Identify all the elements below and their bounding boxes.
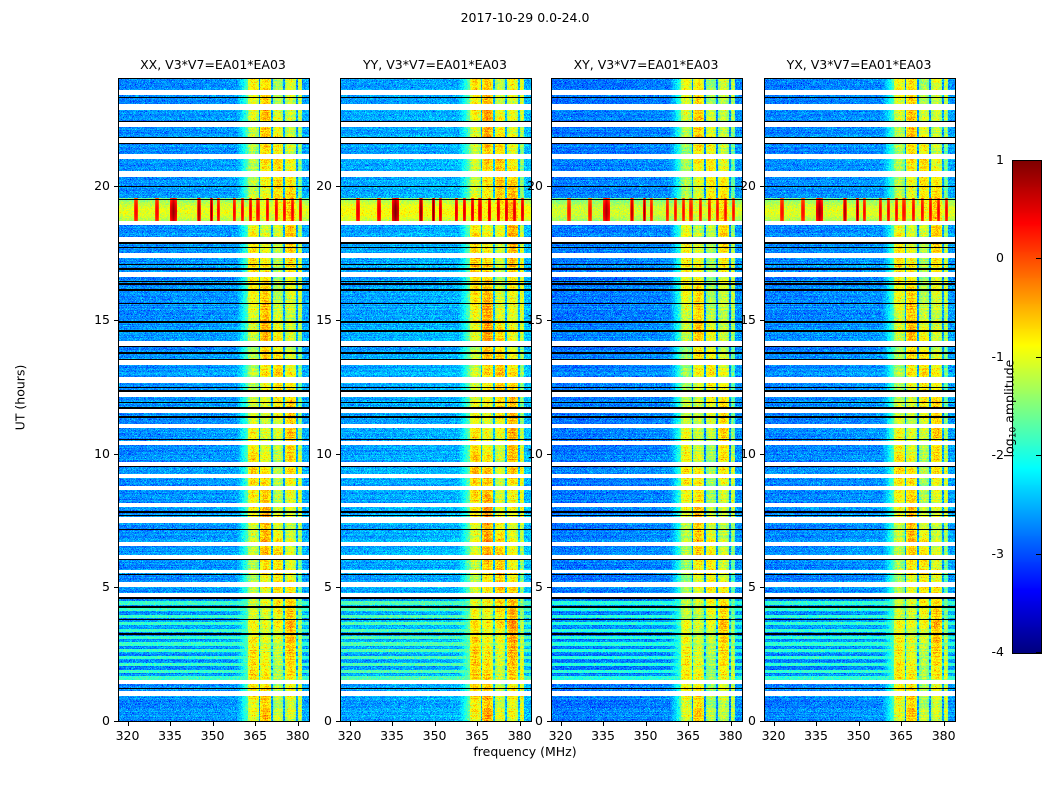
x-tick-mark (859, 722, 860, 726)
y-tick-mark (336, 320, 340, 321)
y-tick-label: 0 (58, 713, 110, 728)
colorbar-tick-mark (1036, 652, 1041, 653)
y-tick-mark (114, 587, 118, 588)
x-tick-mark (477, 722, 478, 726)
waterfall-panel-yy[interactable] (340, 78, 532, 722)
y-tick-label: 5 (58, 579, 110, 594)
x-tick-mark (213, 722, 214, 726)
y-tick-mark (547, 320, 551, 321)
colorbar-tick-label: -4 (980, 644, 1004, 659)
y-tick-mark (336, 454, 340, 455)
y-tick-mark (114, 721, 118, 722)
y-tick-label: 0 (491, 713, 543, 728)
panel-title-xy: XY, V3*V7=EA01*EA03 (551, 57, 741, 72)
colorbar-tick-label: -2 (980, 447, 1004, 462)
y-tick-mark (547, 587, 551, 588)
x-tick-mark (774, 722, 775, 726)
y-tick-mark (336, 721, 340, 722)
y-tick-label: 20 (58, 178, 110, 193)
x-tick-mark (901, 722, 902, 726)
x-tick-mark (603, 722, 604, 726)
colorbar-label-subscript: 10 (1008, 427, 1018, 438)
y-tick-mark (114, 186, 118, 187)
x-tick-mark (392, 722, 393, 726)
y-tick-label: 10 (491, 446, 543, 461)
colorbar-tick-mark (1036, 357, 1041, 358)
waterfall-panel-xx[interactable] (118, 78, 310, 722)
x-tick-mark (561, 722, 562, 726)
y-tick-label: 15 (491, 312, 543, 327)
panel-title-xx: XX, V3*V7=EA01*EA03 (118, 57, 308, 72)
panel-title-yx: YX, V3*V7=EA01*EA03 (764, 57, 954, 72)
y-tick-mark (760, 721, 764, 722)
x-tick-label: 380 (273, 728, 323, 743)
x-tick-mark (350, 722, 351, 726)
y-tick-mark (336, 186, 340, 187)
y-tick-mark (760, 320, 764, 321)
x-tick-mark (435, 722, 436, 726)
colorbar-tick-label: 1 (980, 152, 1004, 167)
x-tick-mark (128, 722, 129, 726)
y-tick-label: 5 (280, 579, 332, 594)
y-tick-label: 15 (280, 312, 332, 327)
y-tick-label: 5 (704, 579, 756, 594)
x-tick-mark (255, 722, 256, 726)
x-tick-mark (816, 722, 817, 726)
y-tick-mark (547, 454, 551, 455)
x-tick-mark (944, 722, 945, 726)
figure-suptitle: 2017-10-29 0.0-24.0 (0, 10, 1050, 25)
y-tick-mark (336, 587, 340, 588)
panel-title-yy: YY, V3*V7=EA01*EA03 (340, 57, 530, 72)
waterfall-panel-xy[interactable] (551, 78, 743, 722)
x-axis-label: frequency (MHz) (0, 744, 1050, 759)
colorbar-tick-label: 0 (980, 250, 1004, 265)
colorbar-label-suffix: amplitude (1002, 360, 1017, 427)
colorbar-tick-mark (1036, 160, 1041, 161)
x-tick-mark (688, 722, 689, 726)
figure-canvas: 2017-10-29 0.0-24.0 XX, V3*V7=EA01*EA03 … (0, 0, 1050, 800)
y-tick-label: 15 (58, 312, 110, 327)
y-tick-label: 10 (58, 446, 110, 461)
y-tick-mark (547, 721, 551, 722)
y-tick-label: 20 (491, 178, 543, 193)
x-tick-mark (646, 722, 647, 726)
y-tick-label: 0 (280, 713, 332, 728)
y-tick-label: 5 (491, 579, 543, 594)
y-tick-mark (760, 454, 764, 455)
colorbar-label: log10 amplitude (1002, 308, 1019, 508)
y-tick-mark (547, 186, 551, 187)
colorbar-tick-mark (1036, 258, 1041, 259)
y-tick-mark (760, 186, 764, 187)
y-tick-label: 20 (704, 178, 756, 193)
y-tick-mark (760, 587, 764, 588)
y-tick-label: 0 (704, 713, 756, 728)
y-tick-label: 20 (280, 178, 332, 193)
waterfall-panel-yx[interactable] (764, 78, 956, 722)
y-tick-mark (114, 454, 118, 455)
colorbar-tick-label: -1 (980, 349, 1004, 364)
y-tick-mark (114, 320, 118, 321)
colorbar-tick-mark (1036, 554, 1041, 555)
x-tick-label: 380 (919, 728, 969, 743)
y-axis-label: UT (hours) (13, 338, 28, 458)
colorbar-tick-label: -3 (980, 546, 1004, 561)
y-tick-label: 10 (280, 446, 332, 461)
colorbar-tick-mark (1036, 455, 1041, 456)
y-tick-label: 10 (704, 446, 756, 461)
x-tick-mark (170, 722, 171, 726)
y-tick-label: 15 (704, 312, 756, 327)
